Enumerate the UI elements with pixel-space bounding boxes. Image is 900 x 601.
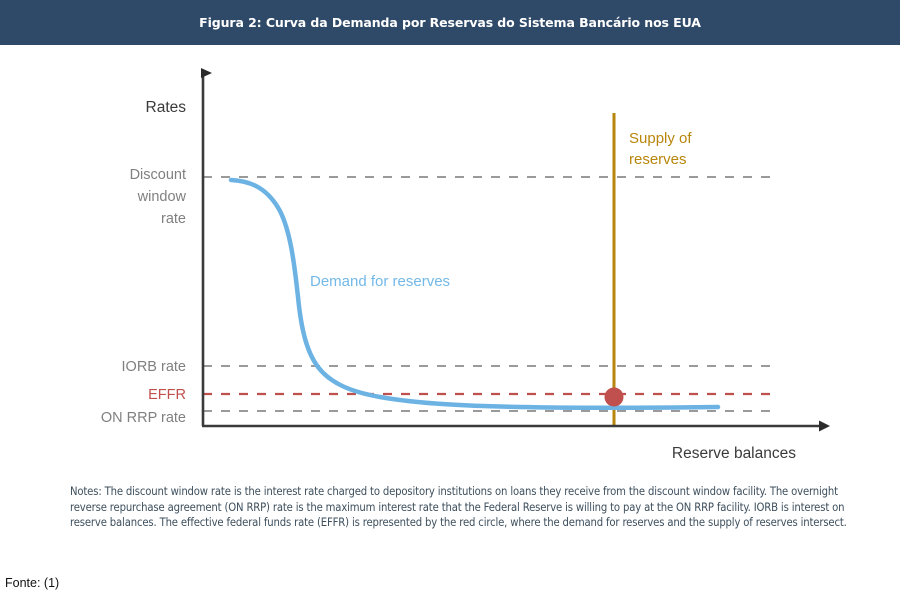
figure-source: Fonte: (1) (5, 576, 59, 590)
figure-notes: Notes: The discount window rate is the i… (70, 484, 860, 531)
supply-of-reserves-label-line2: reserves (629, 151, 687, 168)
demand-for-reserves-curve (231, 180, 718, 408)
effr-intersection-marker (605, 388, 624, 407)
x-axis-title: Reserve balances (672, 445, 796, 462)
y-axis-title: Rates (146, 99, 187, 116)
figure-notes-text: Notes: The discount window rate is the i… (70, 484, 860, 531)
y-label-discount-window-rate-line1: Discount (130, 167, 186, 183)
y-label-effr: EFFR (148, 387, 186, 403)
supply-of-reserves-label-line1: Supply of (629, 130, 692, 147)
figure-title-bar: Figura 2: Curva da Demanda por Reservas … (0, 0, 900, 45)
figure-title: Figura 2: Curva da Demanda por Reservas … (199, 15, 701, 30)
figure-container: Figura 2: Curva da Demanda por Reservas … (0, 0, 900, 601)
demand-for-reserves-chart: Rates Reserve balances Discount window r… (0, 45, 900, 475)
demand-for-reserves-label: Demand for reserves (310, 273, 450, 290)
y-label-on-rrp-rate: ON RRP rate (101, 410, 186, 426)
y-label-discount-window-rate-line2: window (137, 189, 187, 205)
y-label-iorb-rate: IORB rate (122, 359, 186, 375)
y-label-discount-window-rate-line3: rate (161, 211, 186, 227)
chart-panel: Rates Reserve balances Discount window r… (0, 45, 900, 475)
